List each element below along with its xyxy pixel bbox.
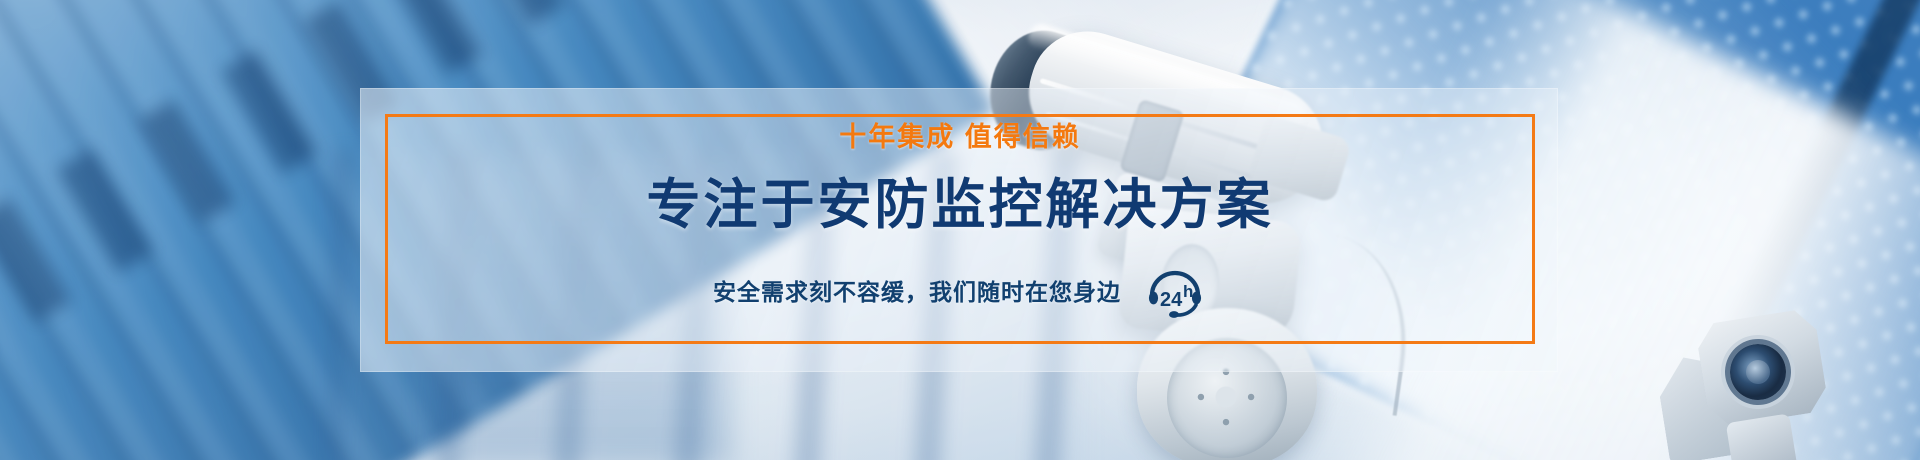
camera-base-bolts	[1193, 364, 1259, 430]
support-unit: h	[1183, 282, 1193, 301]
banner-subtitle: 安全需求刻不容缓，我们随时在您身边	[713, 281, 1121, 304]
cctv-camera-secondary	[1650, 300, 1910, 460]
banner-content: 十年集成 值得信赖 专注于安防监控解决方案 安全需求刻不容缓，我们随时在您身边 …	[385, 114, 1535, 344]
banner-headline: 专注于安防监控解决方案	[647, 177, 1274, 234]
support-number: 24	[1160, 289, 1183, 311]
headset-24h-icon: 24 h	[1143, 264, 1207, 320]
banner-subtitle-row: 安全需求刻不容缓，我们随时在您身边 24 h	[713, 264, 1207, 320]
banner-eyebrow: 十年集成 值得信赖	[839, 124, 1081, 151]
hero-banner: 十年集成 值得信赖 专注于安防监控解决方案 安全需求刻不容缓，我们随时在您身边 …	[0, 0, 1920, 460]
secondary-camera-lens-center	[1746, 360, 1770, 384]
